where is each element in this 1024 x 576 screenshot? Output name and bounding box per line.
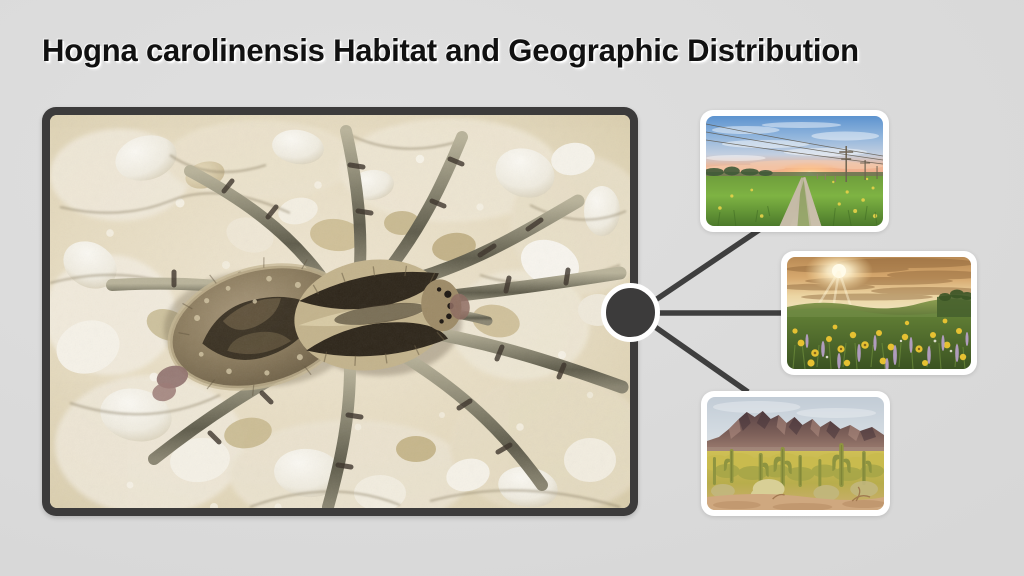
main-image-frame[interactable] [42,107,638,516]
habitat-thumbnail-grassland[interactable] [700,110,889,232]
sonoran-desert-photo [707,397,884,510]
habitat-thumbnail-sonoran-desert[interactable] [701,391,890,516]
slide-canvas: Hogna carolinensis Habitat and Geographi… [0,0,1024,576]
grassland-photo [706,116,883,226]
connector-to-desert [648,322,748,392]
connector-to-grassland [648,228,762,305]
page-title: Hogna carolinensis Habitat and Geographi… [42,32,978,69]
hogna-carolinensis-photograph [50,115,630,508]
wildflower-meadow-photo [787,257,971,369]
habitat-hub-node[interactable] [601,283,660,342]
habitat-thumbnail-wildflower-meadow[interactable] [781,251,977,375]
